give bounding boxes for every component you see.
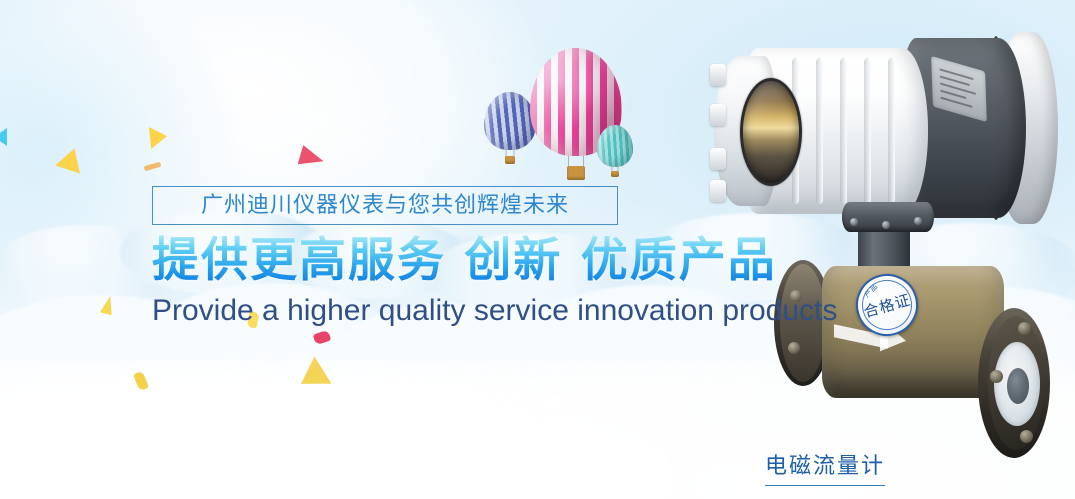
hero-banner: 产品 合格证 广州迪川仪器仪表与您共创辉煌未来 提供更高服务 创新 优质产品 P… xyxy=(0,0,1075,499)
measuring-tube xyxy=(822,266,1004,398)
subtitle-english: Provide a higher quality service innovat… xyxy=(152,294,792,328)
sticker-label: 合格证 xyxy=(856,274,918,336)
balloon-basket xyxy=(505,156,515,164)
confetti-yellow-2 xyxy=(149,125,168,149)
balloon-basket xyxy=(567,166,585,180)
hero-copy: 广州迪川仪器仪表与您共创辉煌未来 提供更高服务 创新 优质产品 Provide … xyxy=(152,186,792,328)
display-window xyxy=(740,78,802,186)
tagline-box: 广州迪川仪器仪表与您共创辉煌未来 xyxy=(152,186,618,225)
hot-air-balloon-blue xyxy=(484,92,536,150)
balloon-envelope xyxy=(597,125,633,167)
balloon-basket xyxy=(611,171,619,177)
tagline-text: 广州迪川仪器仪表与您共创辉煌未来 xyxy=(201,195,569,217)
balloon-envelope xyxy=(484,92,536,150)
neck-flange xyxy=(842,202,934,232)
confetti-cyan-1 xyxy=(0,128,7,146)
page-title: 提供更高服务 创新 优质产品 xyxy=(152,235,792,288)
hot-air-balloon-teal xyxy=(597,125,633,167)
flange-right xyxy=(978,308,1050,458)
product-caption[interactable]: 电磁流量计 xyxy=(765,448,885,486)
